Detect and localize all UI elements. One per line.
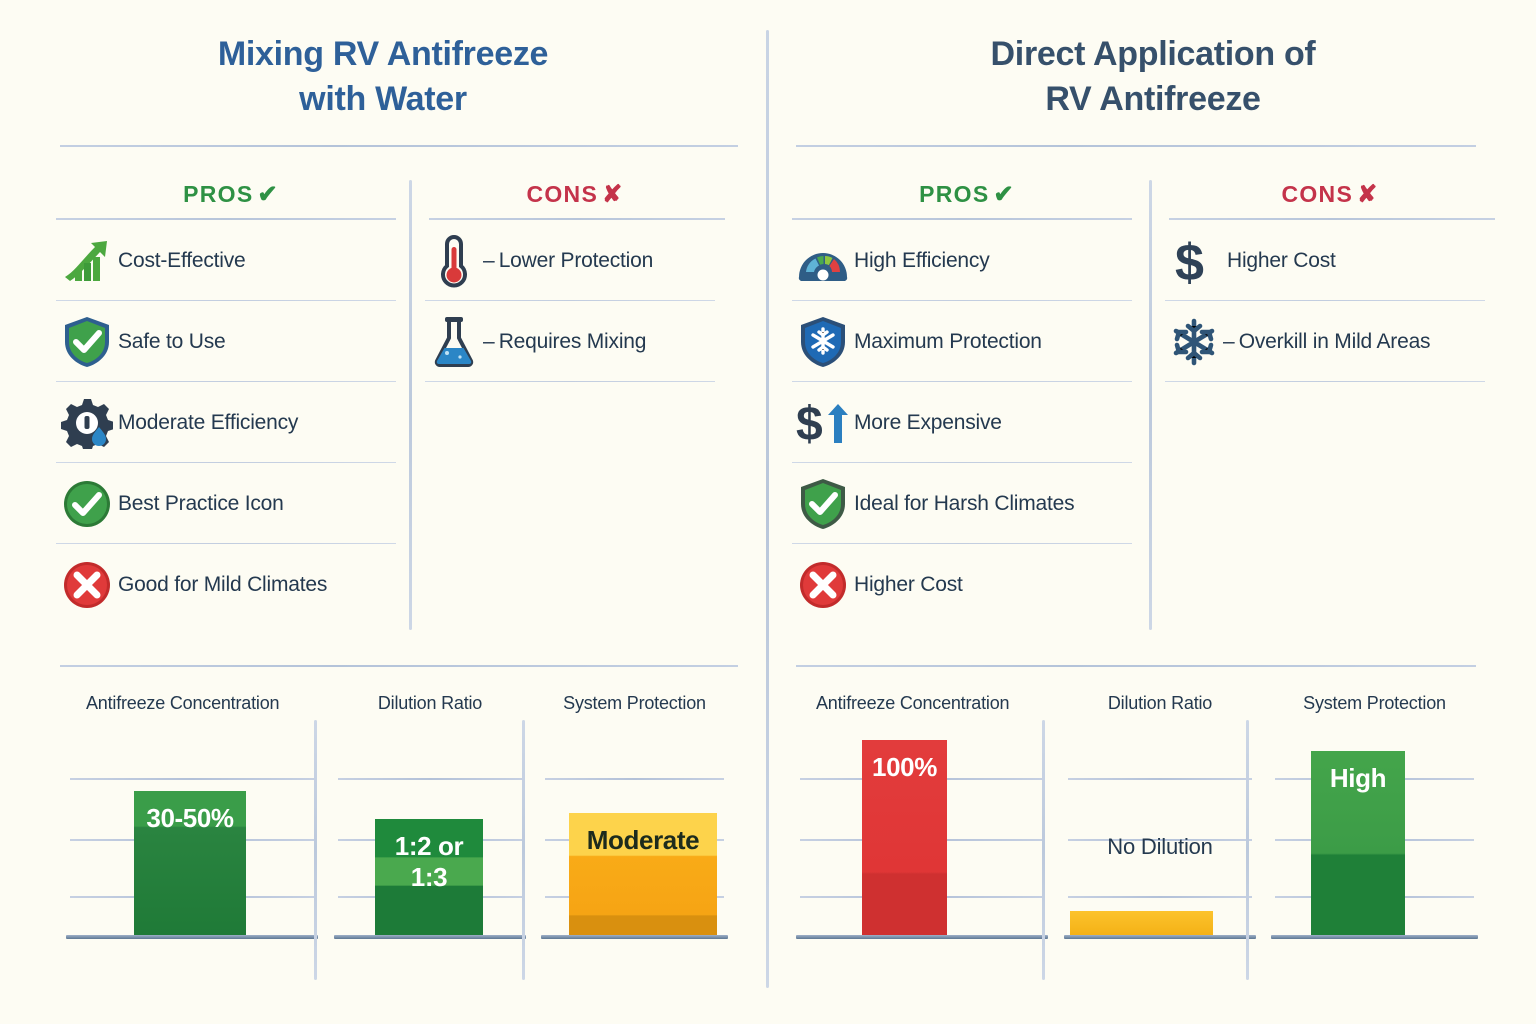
pros-header: PROS✔ [792,170,1142,218]
list-item[interactable]: – Requires Mixing [425,301,725,382]
dollar-up-arrow-icon: $ [792,392,854,454]
gridline [338,778,522,780]
check-icon: ✔ [993,181,1014,208]
panel-direct-application: Direct Application of RV Antifreeze PROS… [770,0,1536,1024]
metric-plot: 100% [792,726,1052,946]
bullet-dash: – [483,330,495,354]
list-item[interactable]: Good for Mild Climates [56,544,406,625]
metric-label: Antifreeze Concentration [792,686,1052,726]
chart-separator [60,665,738,667]
bar-value-label: 30-50% [134,803,246,834]
bar-value-label: 100% [862,752,947,783]
page-title-line2: with Water [0,77,766,122]
title-separator [60,145,738,147]
metric-antifreeze-concentration: Antifreeze Concentration 100% [792,686,1052,956]
gauge-icon [792,230,854,292]
cons-column: CONS✘ $ Higher Cost [1165,170,1495,382]
metric-system-protection: System Protection Moderate [537,686,732,956]
list-item-label: Overkill in Mild Areas [1239,330,1431,354]
list-item-label: More Expensive [854,411,1002,435]
metrics-chart: Antifreeze Concentration 30-50% Dilution… [0,686,766,956]
metric-divider [1246,720,1249,980]
shield-snowflake-icon [792,311,854,373]
growth-chart-arrow-icon [56,230,118,292]
cons-header-label: CONS [1281,181,1353,207]
list-item-label: Safe to Use [118,330,226,354]
x-mark-icon: ✘ [1357,181,1378,208]
flask-icon [425,311,483,373]
pros-cons-divider [1149,180,1152,630]
metric-label: Dilution Ratio [1060,686,1260,726]
pros-cons-divider [409,180,412,630]
metric-plot: Moderate [537,726,732,946]
page-title-line1: Mixing RV Antifreeze [0,32,766,77]
pros-column: PROS✔ Cost-Effective [56,170,406,625]
list-item[interactable]: – Overkill in Mild Areas [1165,301,1495,382]
metric-label: Dilution Ratio [330,686,530,726]
list-item-label: Higher Cost [854,573,963,597]
shield-check-icon [56,311,118,373]
bar: 1:2 or 1:3 [375,819,483,937]
pros-cons-section: PROS✔ Cost-Effective [0,170,766,640]
bullet-dash: – [1223,330,1235,354]
metric-plot: 30-50% [62,726,322,946]
pros-column: PROS✔ High Efficiency [792,170,1142,625]
cons-header: CONS✘ [425,170,725,218]
x-mark-icon: ✘ [602,181,623,208]
list-item[interactable]: Maximum Protection [792,301,1142,382]
metrics-chart: Antifreeze Concentration 100% Dilution R… [770,686,1536,956]
pros-header-label: PROS [183,181,253,207]
gridline [1068,778,1252,780]
list-item[interactable]: High Efficiency [792,220,1142,301]
axis-baseline [541,935,728,939]
snowflake-icon [1165,311,1223,373]
list-item-label: Good for Mild Climates [118,573,327,597]
metric-dilution-ratio: Dilution Ratio 1:2 or 1:3 [330,686,530,956]
list-item[interactable]: Best Practice Icon [56,463,406,544]
gridline [1068,896,1252,898]
pros-header-label: PROS [919,181,989,207]
panel-title: Mixing RV Antifreeze with Water [0,32,766,122]
axis-baseline [796,935,1048,939]
metric-divider [522,720,525,980]
metric-divider [314,720,317,980]
bar: Moderate [569,813,717,937]
metric-plot: No Dilution [1060,726,1260,946]
bar-value-label: Moderate [569,825,717,856]
page-title-line1: Direct Application of [770,32,1536,77]
metric-system-protection: System Protection High [1267,686,1482,956]
chart-separator [796,665,1476,667]
list-item-label: Moderate Efficiency [118,411,298,435]
axis-baseline [66,935,318,939]
list-item-label: Requires Mixing [499,330,647,354]
thermometer-icon [425,230,483,292]
metric-label: Antifreeze Concentration [62,686,322,726]
list-item-label: Cost-Effective [118,249,246,273]
list-item-label: Lower Protection [499,249,653,273]
cons-column: CONS✘ – Lower Protection [425,170,725,382]
circle-x-icon [792,554,854,616]
pros-header: PROS✔ [56,170,406,218]
check-icon: ✔ [257,181,278,208]
axis-baseline [1064,935,1256,939]
bar-value-label: No Dilution [1060,834,1260,860]
circle-check-icon [56,473,118,535]
list-item-label: Higher Cost [1227,249,1336,273]
list-item[interactable]: Cost-Effective [56,220,406,301]
panel-divider [766,30,769,988]
cons-header: CONS✘ [1165,170,1495,218]
list-item[interactable]: Higher Cost [792,544,1142,625]
gridline [545,778,724,780]
metric-label: System Protection [1267,686,1482,726]
circle-x-icon [56,554,118,616]
shield-check-icon [792,473,854,535]
list-item-label: Maximum Protection [854,330,1042,354]
bar: 30-50% [134,791,246,937]
pros-cons-section: PROS✔ High Efficiency [770,170,1536,640]
list-item-label: Best Practice Icon [118,492,284,516]
axis-baseline [1271,935,1478,939]
list-item[interactable]: $ More Expensive [792,382,1142,463]
panel-title: Direct Application of RV Antifreeze [770,32,1536,122]
bar: High [1311,751,1405,937]
page-title-line2: RV Antifreeze [770,77,1536,122]
metric-antifreeze-concentration: Antifreeze Concentration 30-50% [62,686,322,956]
list-item[interactable]: Safe to Use [56,301,406,382]
list-item[interactable]: – Lower Protection [425,220,725,301]
bar-value-label: High [1311,763,1405,794]
infographic-canvas: Mixing RV Antifreeze with Water PROS✔ [0,0,1536,1024]
metric-plot: High [1267,726,1482,946]
gridline [70,778,314,780]
list-item[interactable]: $ Higher Cost [1165,220,1495,301]
bar [1070,911,1213,937]
cons-header-label: CONS [526,181,598,207]
bar-value-label: 1:2 or 1:3 [375,831,483,893]
svg-text:$: $ [796,398,823,449]
list-item-label: Ideal for Harsh Climates [854,492,1074,516]
bullet-dash: – [483,249,495,273]
metric-divider [1042,720,1045,980]
metric-plot: 1:2 or 1:3 [330,726,530,946]
metric-dilution-ratio: Dilution Ratio No Dilution [1060,686,1260,956]
list-item[interactable]: Moderate Efficiency [56,382,406,463]
svg-text:$: $ [1175,234,1204,288]
axis-baseline [334,935,526,939]
panel-mixing-with-water: Mixing RV Antifreeze with Water PROS✔ [0,0,766,1024]
title-separator [796,145,1476,147]
metric-label: System Protection [537,686,732,726]
list-item-label: High Efficiency [854,249,990,273]
bar: 100% [862,740,947,937]
dollar-sign-icon: $ [1165,230,1223,292]
gear-water-drop-icon [56,392,118,454]
list-item[interactable]: Ideal for Harsh Climates [792,463,1142,544]
